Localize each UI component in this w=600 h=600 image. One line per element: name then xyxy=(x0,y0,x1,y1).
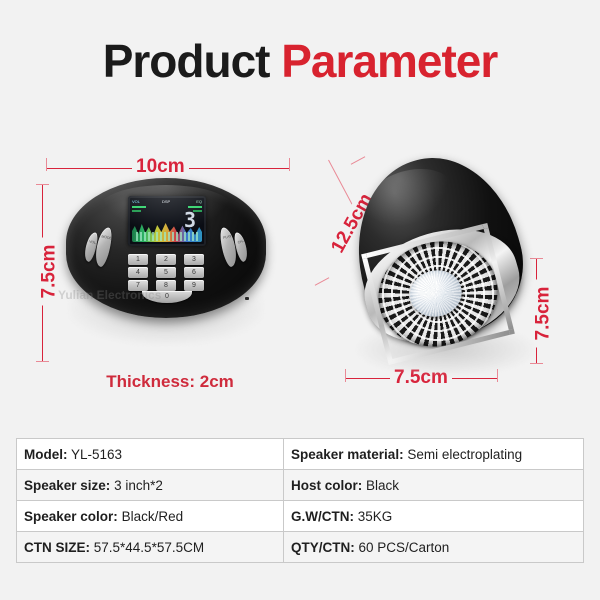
keypad-key-2[interactable]: 2 xyxy=(156,254,176,265)
spec-cell-ctn-size: CTN SIZE: 57.5*44.5*57.5CM xyxy=(17,532,284,563)
spec-value: Black/Red xyxy=(122,509,184,524)
spec-key: Speaker material: xyxy=(291,447,404,462)
table-row: Speaker color: Black/Red G.W/CTN: 35KG xyxy=(17,501,584,532)
spec-cell-speaker-material: Speaker material: Semi electroplating xyxy=(284,439,584,470)
dim-cap-right xyxy=(289,158,290,171)
keypad-key-0[interactable]: 0 xyxy=(142,291,192,303)
screen-bar-4 xyxy=(193,210,202,212)
right-product-figure: 12.5cm 7.5cm 7.5cm Yulian Electronics xyxy=(320,130,590,420)
dim-cap-bottom xyxy=(36,361,49,362)
lcd-screen: VOL DSP EQ 3 xyxy=(128,196,206,246)
left-product-figure: 10cm 7.5cm VOL DSP EQ 3 xyxy=(20,130,310,420)
spec-cell-speaker-size: Speaker size: 3 inch*2 xyxy=(17,470,284,501)
spec-value: 57.5*44.5*57.5CM xyxy=(94,540,204,555)
spec-value: Black xyxy=(366,478,399,493)
spec-value: 3 inch*2 xyxy=(114,478,163,493)
product-parameter-page: Product Parameter 10cm 7.5cm VOL DSP EQ xyxy=(0,0,600,600)
keypad-key-8[interactable]: 8 xyxy=(156,280,176,291)
spec-key: Host color: xyxy=(291,478,362,493)
spec-value: Semi electroplating xyxy=(407,447,522,462)
dim-cap-top xyxy=(36,184,49,185)
spec-value: 60 PCS/Carton xyxy=(359,540,450,555)
spec-cell-host-color: Host color: Black xyxy=(284,470,584,501)
screen-bar-2 xyxy=(132,210,141,212)
screen-bar-1 xyxy=(132,206,146,208)
spec-value: 35KG xyxy=(358,509,393,524)
table-row: CTN SIZE: 57.5*44.5*57.5CM QTY/CTN: 60 P… xyxy=(17,532,584,563)
paddle-label: PLAY xyxy=(221,234,235,241)
spec-cell-qty-per-ctn: QTY/CTN: 60 PCS/Carton xyxy=(284,532,584,563)
screen-value: 3 xyxy=(184,210,196,230)
spec-cell-model: Model: YL-5163 xyxy=(17,439,284,470)
screen-equalizer-ticks xyxy=(136,232,198,241)
specification-table: Model: YL-5163 Speaker material: Semi el… xyxy=(16,438,584,563)
spec-cell-speaker-color: Speaker color: Black/Red xyxy=(17,501,284,532)
paddle-label: MODE xyxy=(100,234,114,241)
page-title-word-2: Parameter xyxy=(281,35,497,87)
table-row: Model: YL-5163 Speaker material: Semi el… xyxy=(17,439,584,470)
keypad-key-4[interactable]: 4 xyxy=(128,267,148,278)
screen-eq-icon: EQ xyxy=(196,199,202,204)
spec-key: G.W/CTN: xyxy=(291,509,354,524)
spec-key: CTN SIZE: xyxy=(24,540,90,555)
keypad-key-5[interactable]: 5 xyxy=(156,267,176,278)
spec-key: QTY/CTN: xyxy=(291,540,355,555)
paddle-label: CH- xyxy=(235,239,246,245)
dim-cap-left xyxy=(46,158,47,171)
keypad-key-7[interactable]: 7 xyxy=(128,280,148,291)
semi-electroplating-speaker xyxy=(348,158,548,373)
screen-vol-icon: VOL xyxy=(132,199,140,204)
dim-cap-diagonal-bottom xyxy=(315,277,330,285)
screen-bar-3 xyxy=(188,206,202,208)
dim-label-height: 7.5cm xyxy=(40,238,59,306)
device-port xyxy=(245,297,249,300)
page-title: Product Parameter xyxy=(0,38,600,84)
spec-value: YL-5163 xyxy=(71,447,122,462)
page-title-word-1: Product xyxy=(103,35,270,87)
spec-key: Model: xyxy=(24,447,68,462)
device-body: VOL DSP EQ 3 VOL- MODE CH- PLAY 1 xyxy=(66,178,266,318)
screen-dsp-icon: DSP xyxy=(162,199,170,204)
dim-cap-bottom-left xyxy=(345,369,346,382)
spec-key: Speaker size: xyxy=(24,478,110,493)
dim-label-width: 10cm xyxy=(132,157,189,176)
keypad-key-1[interactable]: 1 xyxy=(128,254,148,265)
dim-label-thickness: Thickness: 2cm xyxy=(60,372,280,392)
spec-cell-gross-weight: G.W/CTN: 35KG xyxy=(284,501,584,532)
keypad-key-3[interactable]: 3 xyxy=(184,254,204,265)
keypad-remote-host: VOL DSP EQ 3 VOL- MODE CH- PLAY 1 xyxy=(66,178,266,348)
keypad-key-6[interactable]: 6 xyxy=(184,267,204,278)
keypad-key-9[interactable]: 9 xyxy=(184,280,204,291)
spec-key: Speaker color: xyxy=(24,509,118,524)
table-row: Speaker size: 3 inch*2 Host color: Black xyxy=(17,470,584,501)
